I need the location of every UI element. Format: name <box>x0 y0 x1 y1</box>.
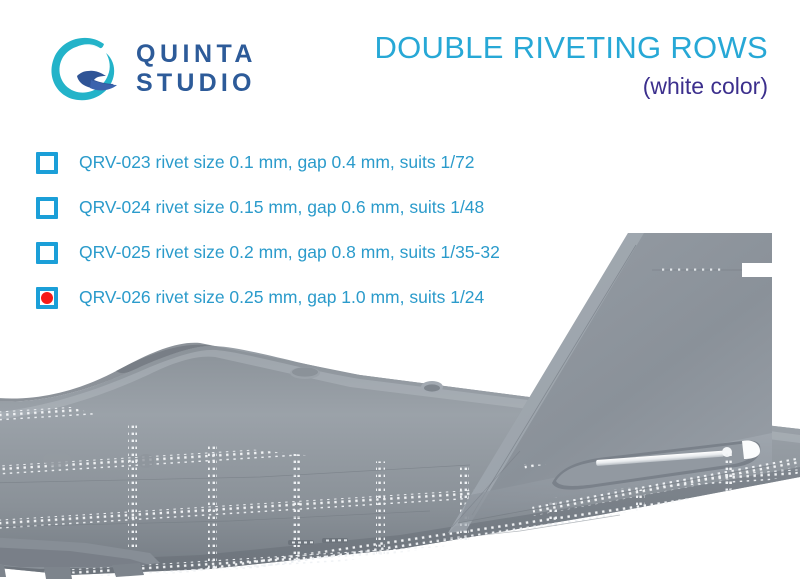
checkbox-empty-icon[interactable] <box>36 152 58 174</box>
brand-line-2: STUDIO <box>136 69 257 99</box>
page-title: DOUBLE RIVETING ROWS <box>374 30 768 66</box>
page-subtitle: (white color) <box>374 73 768 100</box>
list-item-label: QRV-023 rivet size 0.1 mm, gap 0.4 mm, s… <box>79 152 475 173</box>
quinta-q-swoosh-jet-logo-icon <box>44 26 130 112</box>
title-block: DOUBLE RIVETING ROWS (white color) <box>374 30 768 100</box>
header: QUINTA STUDIO DOUBLE RIVETING ROWS (whit… <box>0 0 800 132</box>
brand-logo: QUINTA STUDIO <box>44 26 257 112</box>
brand-wordmark: QUINTA STUDIO <box>136 40 257 99</box>
product-photo-aircraft-fuselage <box>0 215 800 582</box>
list-item[interactable]: QRV-023 rivet size 0.1 mm, gap 0.4 mm, s… <box>36 140 576 185</box>
brand-line-1: QUINTA <box>136 40 257 70</box>
product-label-page: QUINTA STUDIO DOUBLE RIVETING ROWS (whit… <box>0 0 800 582</box>
